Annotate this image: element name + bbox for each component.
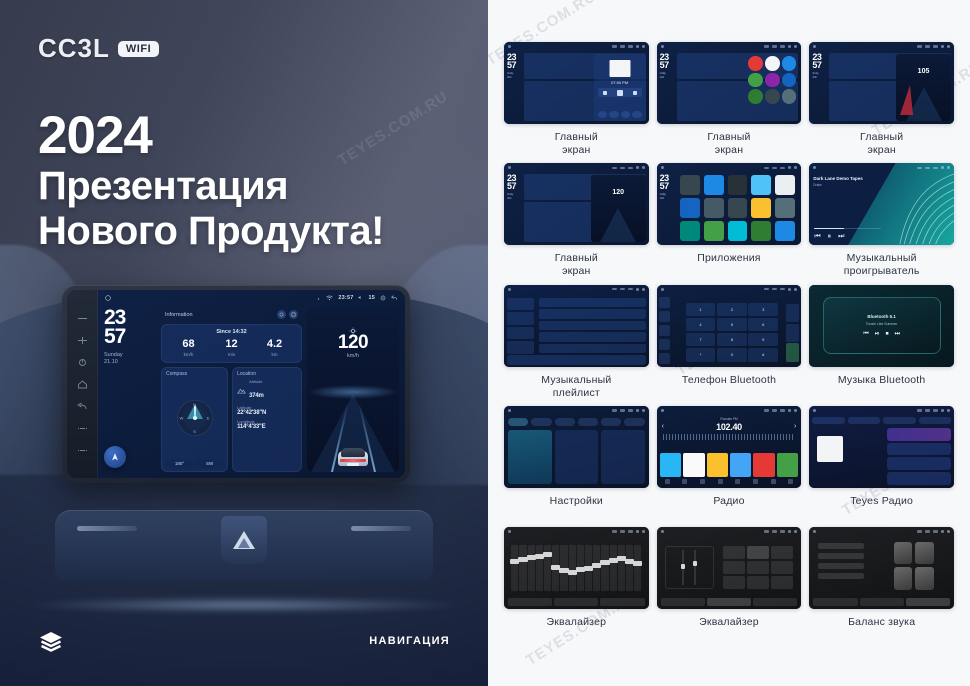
gallery-caption: Эквалайзер: [547, 616, 607, 642]
screen-thumbnail-equalizer-2[interactable]: [657, 527, 802, 609]
home-key[interactable]: [77, 380, 88, 389]
dial-key[interactable]: *: [686, 348, 716, 362]
gallery-item[interactable]: Teyes Радио: [809, 406, 954, 521]
headline-line-2: Нового Продукта!: [38, 209, 384, 254]
compass-center-dot: [193, 416, 197, 420]
compass-title: Compass: [166, 371, 223, 377]
stat-distance: 4.2 km: [253, 339, 296, 357]
hero-footer: НАВИГАЦИЯ: [0, 630, 488, 652]
gallery-item[interactable]: Dark Lane Demo Tapes Drake ⏮⏸⏭: [809, 163, 954, 278]
ambient-light-strip: [20, 597, 468, 613]
home-screen-body: 23 57 Sunday 21.10: [98, 305, 405, 478]
since-label: Since 14:32: [167, 329, 296, 335]
trip-stats: 68 km/h 12 min 4.2: [167, 339, 296, 357]
gallery-caption: Баланс звука: [848, 616, 915, 642]
gallery-caption: Главныйэкран: [860, 131, 903, 157]
altitude-label: Altitude: [249, 379, 264, 384]
stat-duration: 12 min: [210, 339, 253, 357]
wifi-badge: WIFI: [118, 41, 159, 57]
mute-key[interactable]: [77, 446, 88, 455]
screen-thumbnail-home-apps[interactable]: 2357Sunday21.10: [657, 42, 802, 124]
track-title: Dark Lane Demo Tapes: [813, 176, 885, 181]
screen-thumbnail-equalizer-16[interactable]: [504, 527, 649, 609]
gallery-caption: Главныйэкран: [707, 131, 750, 157]
hazard-triangle-icon: [233, 531, 255, 549]
latitude-row: Latitude 22°42'38"N: [237, 405, 297, 416]
car-dashboard: 23:57 15 23 57 Sunday: [0, 255, 488, 686]
screen-thumbnail-teyes-radio[interactable]: [809, 406, 954, 488]
bt-title: Bluetooth 5.1: [867, 314, 896, 319]
screen-thumbnail-radio[interactable]: Rousian FM 102.40 ‹ ›: [657, 406, 802, 488]
clock-date: 21.10: [104, 359, 156, 366]
back-key[interactable]: [77, 402, 88, 411]
clock-column: 23 57 Sunday 21.10: [104, 308, 156, 472]
expand-icon[interactable]: [289, 310, 298, 319]
equalizer-sliders[interactable]: [511, 545, 641, 591]
bezel-key-strip: [67, 290, 98, 478]
widgets-row-2: Compass N E: [161, 367, 302, 472]
dial-key[interactable]: 1: [686, 303, 716, 317]
navigation-arrow-icon[interactable]: [104, 446, 126, 468]
back-icon[interactable]: [391, 295, 398, 301]
altitude-value: 374m: [249, 393, 264, 399]
gallery-item[interactable]: 2357Sunday21.10 Приложения: [657, 163, 802, 278]
compass-card[interactable]: Compass N E: [161, 367, 228, 472]
gallery-item[interactable]: Настройки: [504, 406, 649, 521]
headline-line-1: Презентация: [38, 164, 384, 209]
compass-mark-e: E: [207, 415, 210, 420]
balance-pad[interactable]: [894, 542, 934, 590]
air-vent-left: [77, 526, 137, 531]
radio-band: Rousian FM: [657, 417, 802, 421]
screen-thumbnail-music-player[interactable]: Dark Lane Demo Tapes Drake ⏮⏸⏭: [809, 163, 954, 245]
hazard-button[interactable]: [221, 516, 267, 564]
altitude-row: Altitude 374m: [237, 379, 297, 402]
gallery-item[interactable]: 2357Sunday21.10 120 Главныйэкран: [504, 163, 649, 278]
stat-unit: km/h: [167, 352, 210, 357]
compass-footer: 180° SW: [166, 459, 223, 468]
layers-icon[interactable]: [38, 630, 64, 652]
volume-level: 15: [368, 295, 375, 301]
wifi-icon: [326, 295, 333, 301]
footer-label: НАВИГАЦИЯ: [369, 635, 450, 647]
headline-block: 2024 Презентация Нового Продукта!: [38, 108, 384, 254]
thumb-speed: 120: [591, 189, 646, 196]
gallery-caption: Телефон Bluetooth: [682, 374, 776, 400]
gallery-caption: Главныйэкран: [555, 252, 598, 278]
driving-panel[interactable]: 120 km/h: [307, 308, 399, 472]
head-unit-inner: 23:57 15 23 57 Sunday: [67, 290, 405, 478]
gallery-item[interactable]: 2357Sunday21.10 07:50 PM: [504, 42, 649, 157]
gallery-caption: Музыкальныйпроигрыватель: [844, 252, 920, 278]
gallery-grid: 2357Sunday21.10 07:50 PM: [504, 42, 954, 642]
clock-day: Sunday: [104, 352, 156, 359]
screen-thumbnail-bt-music[interactable]: Bluetooth 5.1 Toosie Like Summer ⏮⏯⏹⏭: [809, 285, 954, 367]
signal-icon: [316, 295, 321, 300]
home-icon[interactable]: [105, 295, 111, 301]
volume-down-key[interactable]: [77, 314, 88, 323]
information-card[interactable]: Since 14:32 68 km/h 12 min: [161, 324, 302, 363]
gallery-item[interactable]: Музыкальныйплейлист: [504, 285, 649, 400]
gallery-caption: Эквалайзер: [699, 616, 759, 642]
clock-widget[interactable]: 23 57 Sunday 21.10: [104, 308, 156, 366]
brand-model-text: CC3L: [38, 33, 110, 64]
latitude-value: 22°42'38"N: [237, 410, 297, 416]
gallery-caption: Главныйэкран: [555, 131, 598, 157]
center-console: [55, 510, 433, 580]
screen-thumbnail-balance[interactable]: [809, 527, 954, 609]
dial-key[interactable]: 2: [717, 303, 747, 317]
dial-key[interactable]: 8: [717, 333, 747, 347]
information-title: Information: [165, 312, 274, 318]
mic-key[interactable]: [77, 424, 88, 433]
gallery-caption: Teyes Радио: [850, 495, 913, 521]
speed-unit: km/h: [307, 353, 399, 359]
compass-mark-n: N: [193, 402, 196, 407]
radio-next-icon[interactable]: ›: [794, 423, 796, 430]
status-bar: 23:57 15: [98, 290, 405, 305]
gallery-item[interactable]: 1 2 3 4 5 6 7 8 9 * 0 #: [657, 285, 802, 400]
car-3d-model: [338, 444, 368, 466]
presentation-page: TEYES.COM.RU TEYES.COM.RU TEYES.COM.RU C…: [0, 0, 970, 686]
headline-year: 2024: [38, 108, 384, 164]
location-card[interactable]: Location Altitude 374m: [232, 367, 302, 472]
stat-value: 12: [210, 339, 253, 350]
screens-gallery: TEYES.COM.RU TEYES.COM.RU TEYES.COM.RU T…: [488, 0, 970, 686]
gear-icon[interactable]: [380, 295, 386, 301]
gallery-caption: Музыка Bluetooth: [838, 374, 926, 400]
gallery-item[interactable]: 2357Sunday21.10 105 Главныйэкран: [809, 42, 954, 157]
stat-value: 4.2: [253, 339, 296, 350]
screen-thumbnail-settings[interactable]: [504, 406, 649, 488]
screen-thumbnail-bt-phone[interactable]: 1 2 3 4 5 6 7 8 9 * 0 #: [657, 285, 802, 367]
dial-key[interactable]: 5: [717, 318, 747, 332]
mountain-icon: [237, 382, 246, 400]
gallery-item[interactable]: Эквалайзер: [504, 527, 649, 642]
compass-mark-s: S: [193, 429, 196, 434]
head-unit: 23:57 15 23 57 Sunday: [62, 285, 410, 483]
dial-key[interactable]: 3: [748, 303, 778, 317]
gallery-item[interactable]: Rousian FM 102.40 ‹ › Радио: [657, 406, 802, 521]
gallery-item[interactable]: Баланс звука: [809, 527, 954, 642]
power-key[interactable]: [77, 358, 88, 367]
air-vent-right: [351, 526, 411, 531]
gallery-item[interactable]: Bluetooth 5.1 Toosie Like Summer ⏮⏯⏹⏭ Му…: [809, 285, 954, 400]
brand-logo: CC3L WIFI: [38, 33, 159, 64]
compass-direction: SW: [196, 459, 223, 468]
dial-key[interactable]: 9: [748, 333, 778, 347]
stat-avg-speed: 68 km/h: [167, 339, 210, 357]
refresh-icon[interactable]: [277, 310, 286, 319]
hero-panel: TEYES.COM.RU TEYES.COM.RU TEYES.COM.RU C…: [0, 0, 488, 686]
bt-track: Toosie Like Summer: [866, 322, 898, 326]
information-header: Information: [161, 308, 302, 320]
compass-dial: N E S W: [166, 379, 223, 456]
stat-unit: min: [210, 352, 253, 357]
dial-key[interactable]: 6: [748, 318, 778, 332]
compass-heading: 180°: [166, 459, 193, 468]
status-time: 23:57: [338, 295, 353, 301]
volume-up-key[interactable]: [77, 336, 88, 345]
radio-prev-icon[interactable]: ‹: [662, 423, 664, 430]
gallery-item[interactable]: Эквалайзер: [657, 527, 802, 642]
dial-key[interactable]: 7: [686, 333, 716, 347]
volume-icon[interactable]: [358, 295, 363, 300]
gallery-caption: Радио: [713, 495, 744, 521]
longitude-row: Longitude 114°4'33"E: [237, 419, 297, 430]
widgets-column: Information Since 14:32 68: [161, 308, 302, 472]
gallery-caption: Настройки: [550, 495, 603, 521]
dial-key[interactable]: #: [748, 348, 778, 362]
gallery-caption: Приложения: [697, 252, 760, 278]
dial-key[interactable]: 4: [686, 318, 716, 332]
dial-key[interactable]: 0: [717, 348, 747, 362]
gallery-item[interactable]: 2357Sunday21.10 Главныйэкран: [657, 42, 802, 157]
speed-value: 120: [307, 332, 399, 354]
dial-pad[interactable]: 1 2 3 4 5 6 7 8 9 * 0 #: [686, 303, 779, 362]
gallery-caption: Музыкальныйплейлист: [541, 374, 611, 400]
screen-thumbnail-home-dash-red[interactable]: 2357Sunday21.10 105: [809, 42, 954, 124]
clock-minutes: 57: [104, 327, 156, 346]
screen-thumbnail-home-music[interactable]: 2357Sunday21.10 07:50 PM: [504, 42, 649, 124]
head-unit-screen[interactable]: 23:57 15 23 57 Sunday: [98, 290, 405, 478]
screen-thumbnail-app-drawer[interactable]: 2357Sunday21.10: [657, 163, 802, 245]
longitude-value: 114°4'33"E: [237, 424, 297, 430]
screen-thumbnail-home-dash[interactable]: 2357Sunday21.10 120: [504, 163, 649, 245]
stat-value: 68: [167, 339, 210, 350]
thumb-speed: 105: [896, 68, 951, 75]
compass-mark-w: W: [180, 415, 184, 420]
radio-frequency: 102.40: [657, 422, 802, 432]
stat-unit: km: [253, 352, 296, 357]
location-title: Location: [237, 371, 297, 377]
screen-thumbnail-playlist[interactable]: [504, 285, 649, 367]
